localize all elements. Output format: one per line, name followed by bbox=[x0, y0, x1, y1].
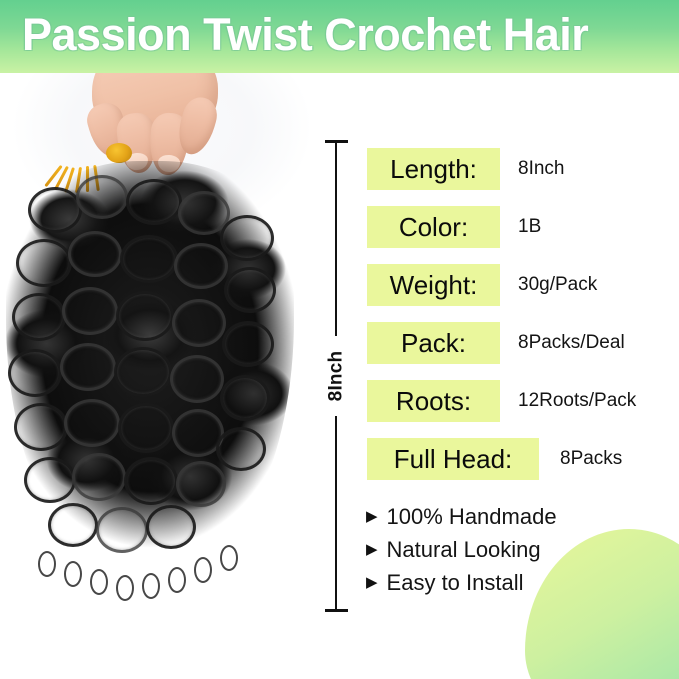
hair-curl bbox=[172, 299, 226, 347]
hair-curl bbox=[12, 293, 66, 341]
triangle-bullet-icon: ▶ bbox=[366, 542, 378, 557]
hair-tendril bbox=[64, 561, 82, 587]
spec-value-pack: 8Packs/Deal bbox=[518, 322, 625, 364]
hair-curl bbox=[224, 267, 276, 313]
hair-curl bbox=[16, 239, 72, 287]
spec-row-weight: Weight: 30g/Pack bbox=[367, 264, 667, 306]
spec-value-roots: 12Roots/Pack bbox=[518, 380, 636, 422]
hair-curl bbox=[60, 343, 116, 391]
feature-item-handmade: ▶ 100% Handmade bbox=[366, 500, 666, 533]
hair-fringe bbox=[8, 477, 292, 597]
product-photo bbox=[0, 73, 312, 618]
hair-curl bbox=[216, 427, 266, 471]
dimension-label: 8Inch bbox=[298, 336, 374, 416]
feature-text: 100% Handmade bbox=[387, 504, 557, 530]
hair-bundle bbox=[2, 161, 302, 601]
hair-curl bbox=[120, 235, 178, 283]
hair-curl bbox=[28, 187, 82, 233]
hair-tendril bbox=[142, 573, 160, 599]
hair-curl bbox=[170, 355, 224, 403]
spec-label-pack: Pack: bbox=[367, 322, 500, 364]
spec-label-weight: Weight: bbox=[367, 264, 500, 306]
hair-curl bbox=[68, 231, 122, 277]
triangle-bullet-icon: ▶ bbox=[366, 575, 378, 590]
hair-curl bbox=[62, 287, 118, 335]
header-banner: Passion Twist Crochet Hair bbox=[0, 0, 679, 73]
spec-value-weight: 30g/Pack bbox=[518, 264, 597, 306]
spec-label-roots: Roots: bbox=[367, 380, 500, 422]
dimension-cap-bottom bbox=[325, 609, 348, 612]
hair-curl bbox=[174, 243, 228, 289]
hair-curl bbox=[220, 375, 270, 421]
spec-row-pack: Pack: 8Packs/Deal bbox=[367, 322, 667, 364]
gold-knot bbox=[106, 143, 132, 163]
feature-item-easy-install: ▶ Easy to Install bbox=[366, 566, 666, 599]
hair-tendril bbox=[194, 557, 212, 583]
hair-curl bbox=[64, 399, 120, 447]
feature-text: Natural Looking bbox=[387, 537, 541, 563]
dimension-label-text: 8Inch bbox=[325, 351, 347, 402]
hair-tendril bbox=[168, 567, 186, 593]
hair-tendril bbox=[116, 575, 134, 601]
spec-list: Length: 8Inch Color: 1B Weight: 30g/Pack… bbox=[367, 148, 667, 496]
dimension-segment-top bbox=[335, 142, 337, 336]
dimension-segment-bottom bbox=[335, 416, 337, 610]
spec-value-length: 8Inch bbox=[518, 148, 564, 190]
hair-curl bbox=[126, 179, 182, 225]
spec-row-color: Color: 1B bbox=[367, 206, 667, 248]
feature-list: ▶ 100% Handmade ▶ Natural Looking ▶ Easy… bbox=[366, 500, 666, 599]
hair-curl bbox=[14, 403, 68, 451]
hair-curl bbox=[76, 175, 128, 219]
spec-value-full-head: 8Packs bbox=[560, 438, 622, 480]
spec-row-full-head: Full Head: 8Packs bbox=[367, 438, 667, 480]
spec-row-length: Length: 8Inch bbox=[367, 148, 667, 190]
spec-value-color: 1B bbox=[518, 206, 541, 248]
hair-tendril bbox=[90, 569, 108, 595]
triangle-bullet-icon: ▶ bbox=[366, 509, 378, 524]
hair-tendril bbox=[38, 551, 56, 577]
spec-label-color: Color: bbox=[367, 206, 500, 248]
hair-curl bbox=[118, 403, 174, 453]
spec-label-length: Length: bbox=[367, 148, 500, 190]
feature-text: Easy to Install bbox=[387, 570, 524, 596]
hair-tendril bbox=[220, 545, 238, 571]
hair-curl bbox=[220, 215, 274, 261]
spec-label-full-head: Full Head: bbox=[367, 438, 539, 480]
dimension-line: 8Inch bbox=[318, 140, 354, 612]
product-infographic: Passion Twist Crochet Hair bbox=[0, 0, 679, 679]
hair-curl bbox=[114, 347, 172, 397]
hair-curl bbox=[8, 349, 62, 397]
hair-curl bbox=[222, 321, 274, 367]
page-title: Passion Twist Crochet Hair bbox=[22, 4, 588, 66]
hair-curl bbox=[116, 291, 174, 341]
feature-item-natural-looking: ▶ Natural Looking bbox=[366, 533, 666, 566]
spec-row-roots: Roots: 12Roots/Pack bbox=[367, 380, 667, 422]
